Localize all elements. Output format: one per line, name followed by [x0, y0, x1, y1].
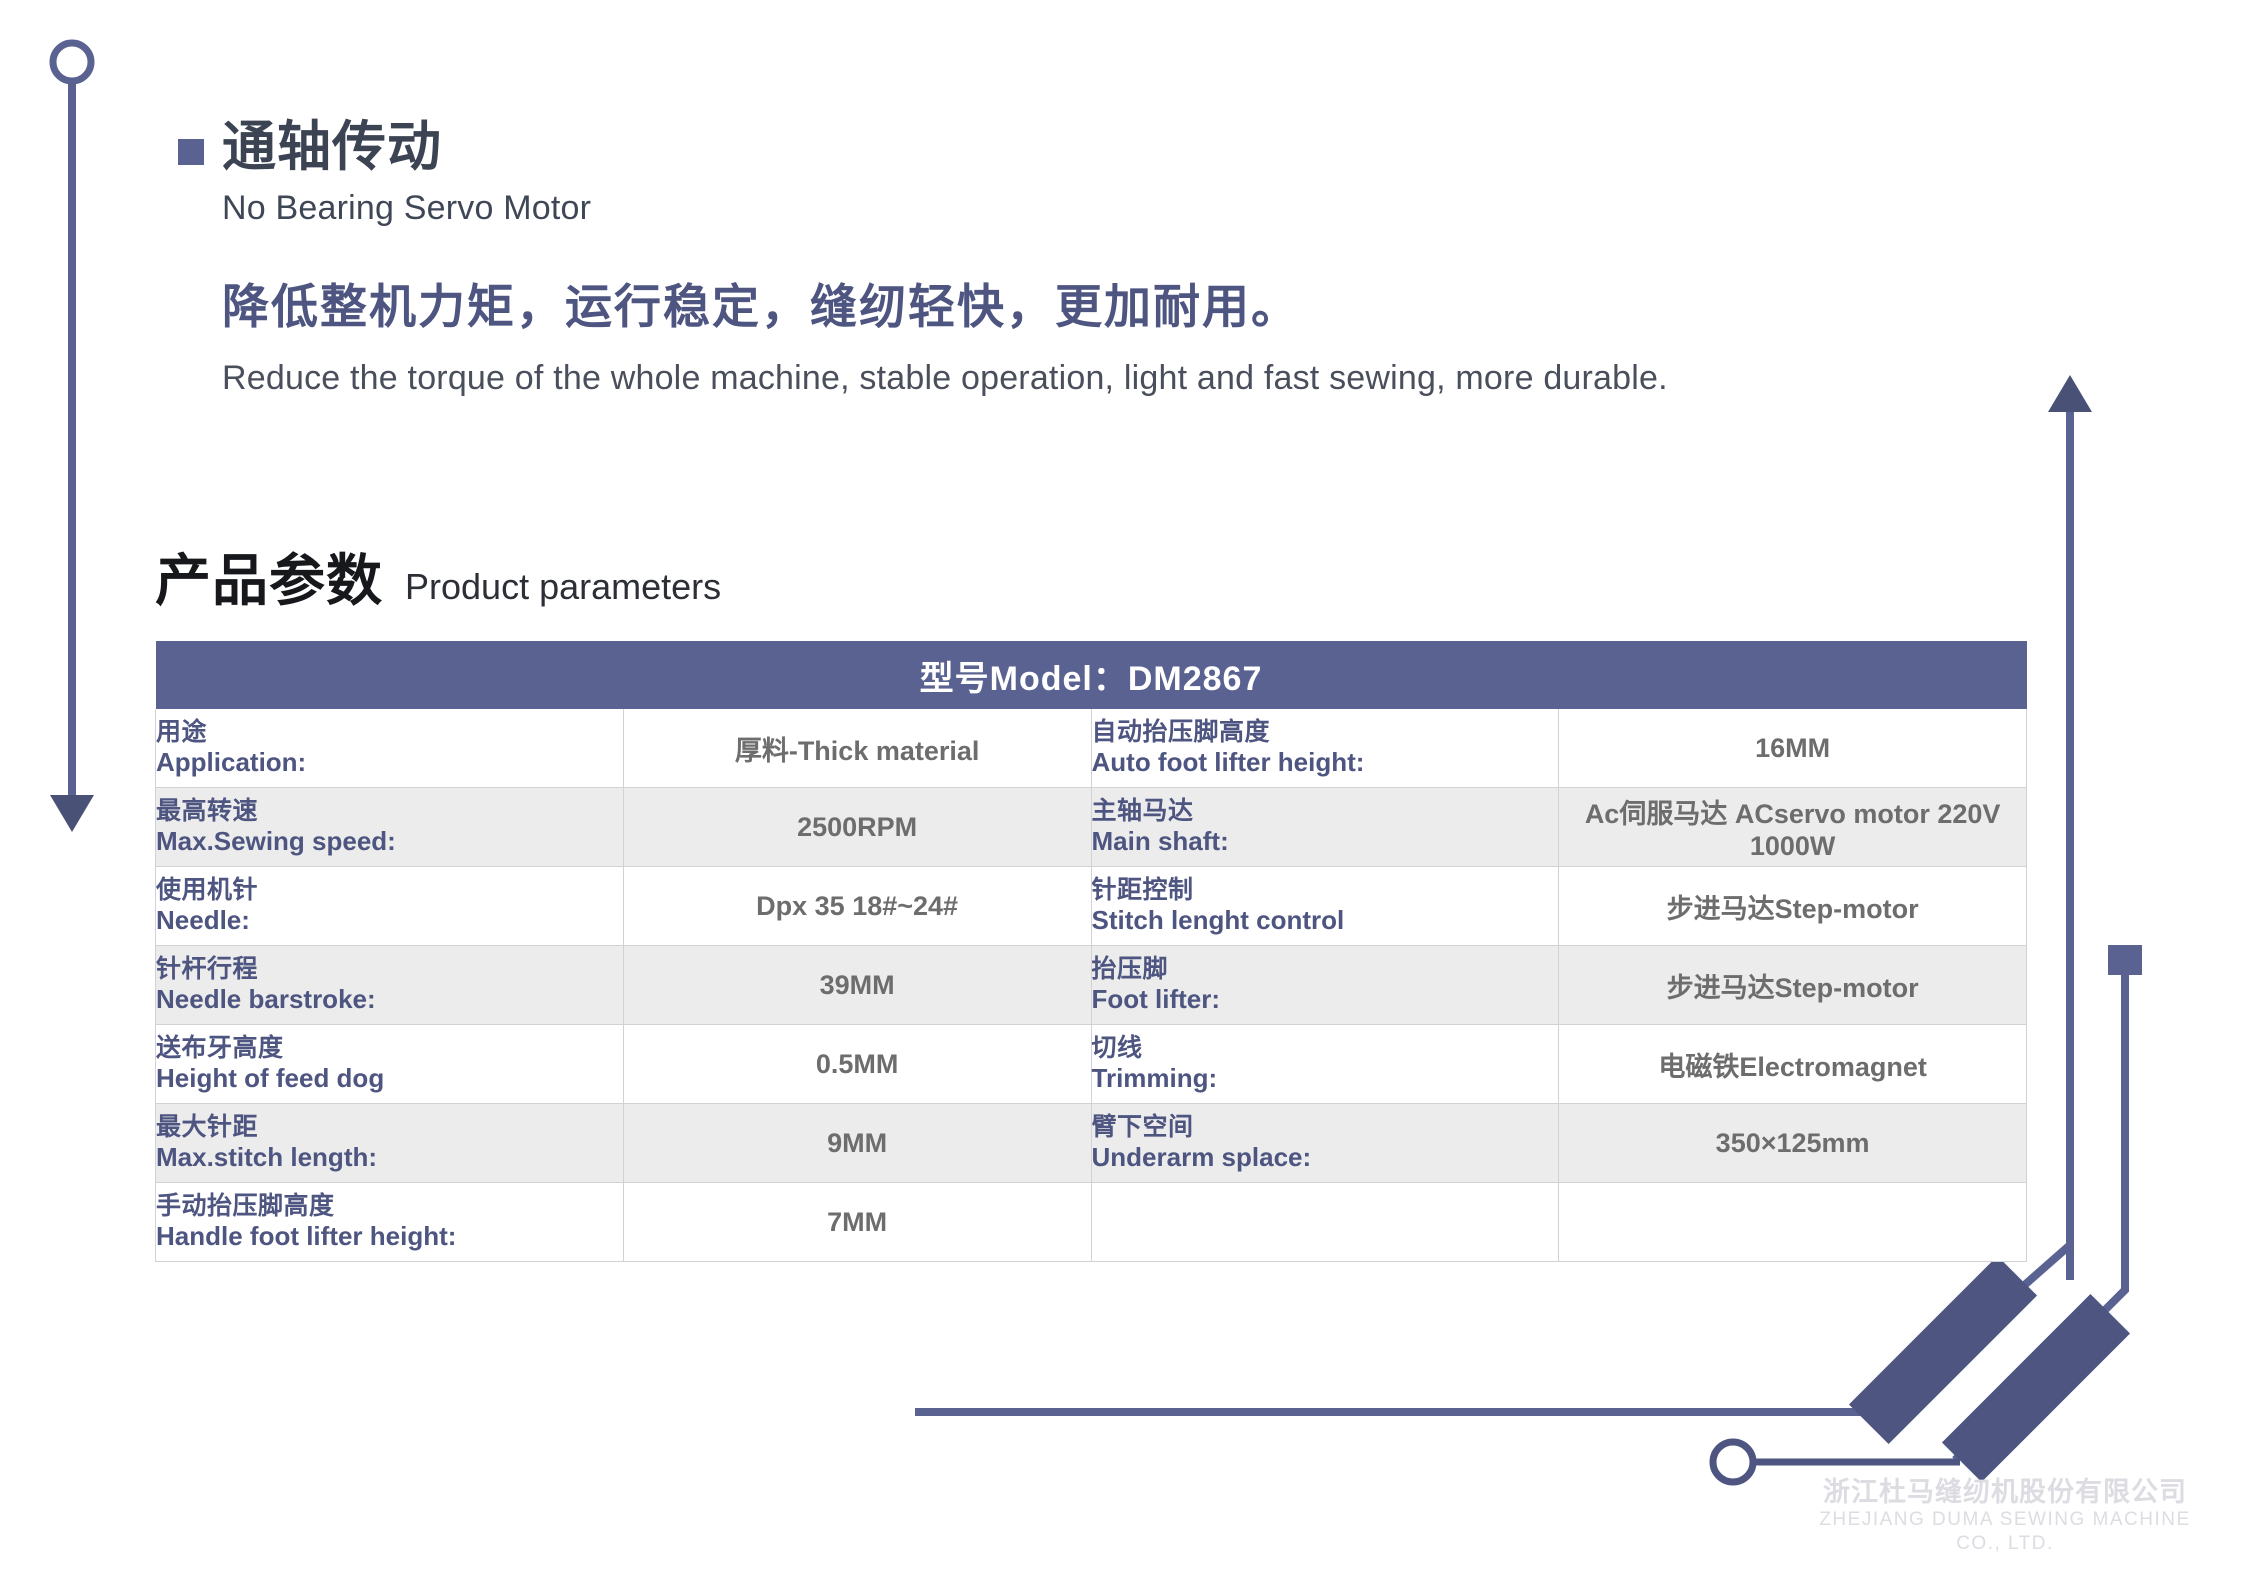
- row-2-right-label: 针距控制 Stitch lenght control: [1091, 867, 1559, 946]
- row-3-right-label-en: Foot lifter:: [1092, 984, 1559, 1016]
- row-3-right-value: 步进马达Step-motor: [1559, 946, 2027, 1025]
- row-4-right-label-cn: 切线: [1092, 1033, 1559, 1064]
- row-1-left-label: 最高转速 Max.Sewing speed:: [156, 788, 624, 867]
- model-header-cell: 型号Model：DM2867: [156, 641, 2027, 709]
- row-6-right-label-empty: [1091, 1183, 1559, 1262]
- row-6-left-label-en: Handle foot lifter height:: [156, 1221, 623, 1253]
- row-4-right-label-en: Trimming:: [1092, 1063, 1559, 1095]
- row-0-left-label: 用途 Application:: [156, 709, 624, 788]
- row-3-right-label: 抬压脚 Foot lifter:: [1091, 946, 1559, 1025]
- row-5-right-value: 350×125mm: [1559, 1104, 2027, 1183]
- watermark-cn: 浙江杜马缝纫机股份有限公司: [1795, 1478, 2215, 1508]
- model-header-row: 型号Model：DM2867: [156, 641, 2027, 709]
- row-5-right-label-en: Underarm splace:: [1092, 1142, 1559, 1174]
- row-2-left-label-cn: 使用机针: [156, 875, 623, 906]
- row-4-right-value: 电磁铁Electromagnet: [1559, 1025, 2027, 1104]
- row-3-right-label-cn: 抬压脚: [1092, 954, 1559, 985]
- row-3-left-label-en: Needle barstroke:: [156, 984, 623, 1016]
- right-up-arrow-decoration: [2048, 375, 2092, 1280]
- table-row: 手动抬压脚高度 Handle foot lifter height: 7MM: [156, 1183, 2027, 1262]
- page-title-cn: 通轴传动: [222, 118, 442, 177]
- row-1-left-label-en: Max.Sewing speed:: [156, 826, 623, 858]
- row-2-right-label-en: Stitch lenght control: [1092, 905, 1559, 937]
- table-row: 最高转速 Max.Sewing speed: 2500RPM 主轴马达 Main…: [156, 788, 2027, 867]
- row-4-left-label: 送布牙高度 Height of feed dog: [156, 1025, 624, 1104]
- row-5-left-value: 9MM: [623, 1104, 1091, 1183]
- row-5-left-label-en: Max.stitch length:: [156, 1142, 623, 1174]
- product-parameters-table: 型号Model：DM2867 用途 Application: 厚料-Thick …: [155, 641, 2027, 1262]
- row-4-right-label: 切线 Trimming:: [1091, 1025, 1559, 1104]
- row-2-left-label: 使用机针 Needle:: [156, 867, 624, 946]
- row-0-right-label: 自动抬压脚高度 Auto foot lifter height:: [1091, 709, 1559, 788]
- bottom-bent-line-decoration: [915, 1245, 2070, 1412]
- lead-text-cn: 降低整机力矩，运行稳定，缝纫轻快，更加耐用。: [222, 268, 2078, 337]
- watermark-en: ZHEJIANG DUMA SEWING MACHINE CO., LTD.: [1795, 1508, 2215, 1557]
- row-3-left-label: 针杆行程 Needle barstroke:: [156, 946, 624, 1025]
- lead-text-en: Reduce the torque of the whole machine, …: [222, 359, 2078, 398]
- row-5-left-label-cn: 最大针距: [156, 1112, 623, 1143]
- table-row: 送布牙高度 Height of feed dog 0.5MM 切线 Trimmi…: [156, 1025, 2027, 1104]
- row-5-left-label: 最大针距 Max.stitch length:: [156, 1104, 624, 1183]
- left-arrow-decoration: [50, 43, 94, 832]
- row-6-left-label: 手动抬压脚高度 Handle foot lifter height:: [156, 1183, 624, 1262]
- row-1-right-label-cn: 主轴马达: [1092, 796, 1559, 827]
- row-4-left-label-en: Height of feed dog: [156, 1063, 623, 1095]
- row-4-left-value: 0.5MM: [623, 1025, 1091, 1104]
- row-2-right-label-cn: 针距控制: [1092, 875, 1559, 906]
- bottom-circle-node: [1713, 1442, 1960, 1482]
- company-watermark: 浙江杜马缝纫机股份有限公司 ZHEJIANG DUMA SEWING MACHI…: [1795, 1478, 2215, 1557]
- row-4-left-label-cn: 送布牙高度: [156, 1033, 623, 1064]
- table-row: 用途 Application: 厚料-Thick material 自动抬压脚高…: [156, 709, 2027, 788]
- row-2-left-label-en: Needle:: [156, 905, 623, 937]
- row-0-left-label-en: Application:: [156, 747, 623, 779]
- row-1-left-value: 2500RPM: [623, 788, 1091, 867]
- row-6-left-label-cn: 手动抬压脚高度: [156, 1191, 623, 1222]
- row-2-right-value: 步进马达Step-motor: [1559, 867, 2027, 946]
- row-3-left-value: 39MM: [623, 946, 1091, 1025]
- row-3-left-label-cn: 针杆行程: [156, 954, 623, 985]
- row-0-right-value: 16MM: [1559, 709, 2027, 788]
- row-0-right-label-cn: 自动抬压脚高度: [1092, 717, 1559, 748]
- section-heading: 产品参数 Product parameters: [155, 553, 721, 609]
- bullet-square-icon: [178, 139, 204, 165]
- table-row: 针杆行程 Needle barstroke: 39MM 抬压脚 Foot lif…: [156, 946, 2027, 1025]
- row-1-right-label-en: Main shaft:: [1092, 826, 1559, 858]
- title-row: 通轴传动: [178, 118, 2078, 177]
- section-heading-cn: 产品参数: [155, 553, 383, 609]
- table-row: 最大针距 Max.stitch length: 9MM 臂下空间 Underar…: [156, 1104, 2027, 1183]
- page-title-en: No Bearing Servo Motor: [222, 189, 2078, 228]
- diagonal-bar-decoration: [1849, 1256, 2130, 1482]
- section-heading-en: Product parameters: [405, 569, 721, 609]
- header-block: 通轴传动 No Bearing Servo Motor 降低整机力矩，运行稳定，…: [178, 118, 2078, 398]
- row-6-left-value: 7MM: [623, 1183, 1091, 1262]
- row-5-right-label: 臂下空间 Underarm splace:: [1091, 1104, 1559, 1183]
- table-row: 使用机针 Needle: Dpx 35 18#~24# 针距控制 Stitch …: [156, 867, 2027, 946]
- row-1-right-label: 主轴马达 Main shaft:: [1091, 788, 1559, 867]
- row-6-right-value-empty: [1559, 1183, 2027, 1262]
- row-0-left-label-cn: 用途: [156, 717, 623, 748]
- row-2-left-value: Dpx 35 18#~24#: [623, 867, 1091, 946]
- row-1-left-label-cn: 最高转速: [156, 796, 623, 827]
- row-1-right-value: Ac伺服马达 ACservo motor 220V 1000W: [1559, 788, 2027, 867]
- row-0-left-value: 厚料-Thick material: [623, 709, 1091, 788]
- row-5-right-label-cn: 臂下空间: [1092, 1112, 1559, 1143]
- row-0-right-label-en: Auto foot lifter height:: [1092, 747, 1559, 779]
- table-body: 型号Model：DM2867 用途 Application: 厚料-Thick …: [156, 641, 2027, 1262]
